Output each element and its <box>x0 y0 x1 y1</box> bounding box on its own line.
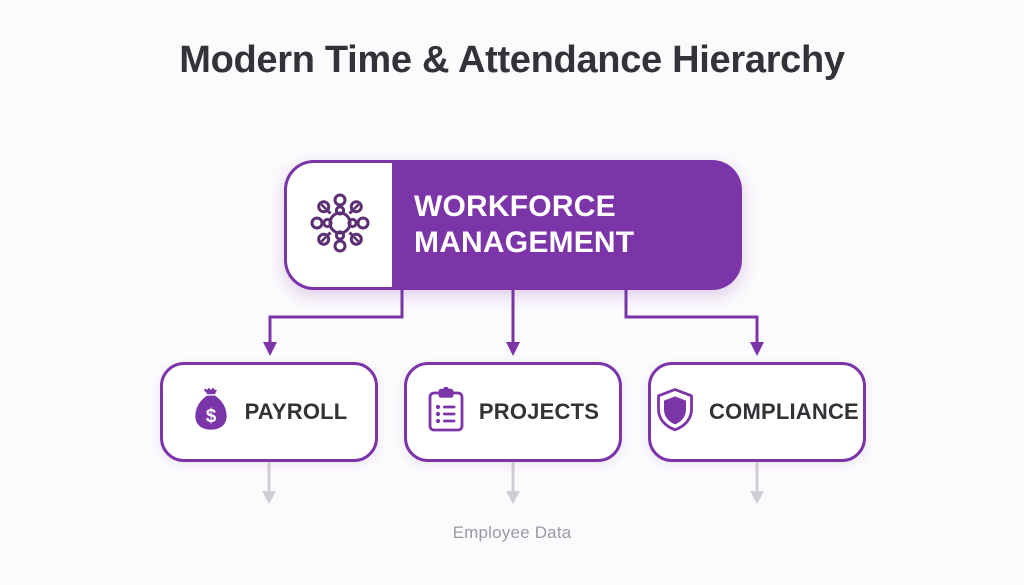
node-compliance[interactable]: COMPLIANCE <box>648 362 866 462</box>
root-node-label: WORKFORCE MANAGEMENT <box>392 160 742 290</box>
money-bag-icon: $ <box>191 387 231 438</box>
connector-root-to-compliance <box>626 291 757 344</box>
arrowhead-compliance <box>750 342 764 356</box>
shield-icon <box>655 387 695 438</box>
node-projects-label: PROJECTS <box>479 399 599 425</box>
node-payroll[interactable]: $ PAYROLL <box>160 362 378 462</box>
connector-root-to-payroll <box>270 291 402 344</box>
connector-layer <box>0 0 1024 585</box>
arrowhead-projects-down <box>506 491 520 504</box>
network-nodes-icon <box>309 192 371 259</box>
arrowhead-payroll <box>263 342 277 356</box>
arrowhead-projects <box>506 342 520 356</box>
employee-data-label: Employee Data <box>0 523 1024 543</box>
node-projects[interactable]: PROJECTS <box>404 362 622 462</box>
root-icon-panel <box>284 160 392 290</box>
hierarchy-diagram: WORKFORCE MANAGEMENT $ PAYROLL <box>0 0 1024 585</box>
svg-text:$: $ <box>205 406 216 427</box>
arrowhead-payroll-down <box>262 491 276 504</box>
node-payroll-label: PAYROLL <box>245 399 348 425</box>
root-label-line-1: WORKFORCE <box>414 189 742 225</box>
clipboard-checklist-icon <box>427 387 465 438</box>
node-workforce-management[interactable]: WORKFORCE MANAGEMENT <box>284 160 742 290</box>
node-compliance-label: COMPLIANCE <box>709 399 859 425</box>
arrowhead-compliance-down <box>750 491 764 504</box>
root-label-line-2: MANAGEMENT <box>414 225 742 261</box>
